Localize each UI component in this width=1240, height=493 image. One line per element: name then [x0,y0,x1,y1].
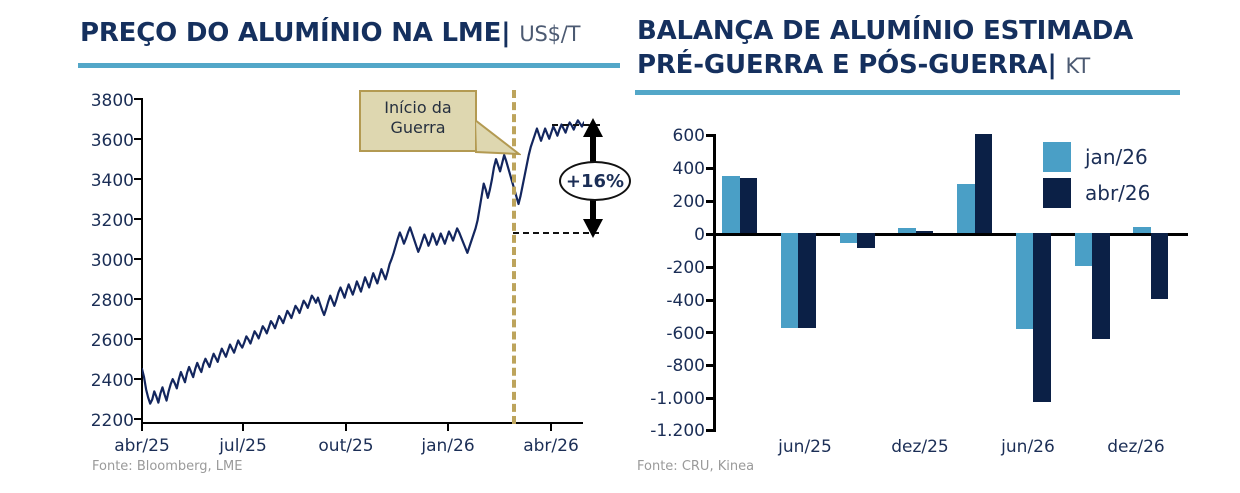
right-xtick-dez25: dez/25 [870,437,970,457]
right-ytick-neg800: -800 [625,356,705,376]
right-ytick-neg600: -600 [625,324,705,344]
right-title-separator: | [1047,50,1056,80]
price-delta-badge: +16% [559,161,631,201]
right-ytick-0: 0 [625,225,705,245]
left-ytickmark-3400 [134,178,142,180]
left-ytickmark-2400 [134,378,142,380]
legend-swatch-abr26 [1043,178,1071,208]
war-start-callout: Início da Guerra [359,90,477,152]
bar-mar-25-jan-26 [722,176,740,233]
bar-jun-26-jan-26 [1016,233,1034,329]
right-ytickmark-neg800 [706,364,714,367]
right-ytick-neg200: -200 [625,258,705,278]
right-title-text2: PRÉ-GUERRA E PÓS-GUERRA [637,50,1047,80]
right-ytick-600: 600 [625,126,705,146]
slide-root: PREÇO DO ALUMÍNIO NA LME| US$/T 3800 360… [0,0,1240,493]
bar-mar-25-abr-26 [740,178,758,234]
right-ytickmark-neg200 [706,266,714,269]
bar-set-25-abr-26 [857,233,875,248]
callout-line-1: Início da [371,98,465,118]
left-ytick-2400: 2400 [68,371,134,391]
legend-label-abr26: abr/26 [1085,181,1150,205]
left-xtick-out25: out/25 [300,436,392,456]
left-ytick-2600: 2600 [68,331,134,351]
bar-dez-25-abr-26 [916,231,934,234]
right-chart-title-line1: BALANÇA DE ALUMÍNIO ESTIMADA [637,16,1133,46]
left-title-unit: US$/T [519,22,580,46]
right-ytick-neg400: -400 [625,291,705,311]
left-chart-title: PREÇO DO ALUMÍNIO NA LME| US$/T [80,18,580,48]
left-chart-panel: PREÇO DO ALUMÍNIO NA LME| US$/T 3800 360… [0,0,625,493]
left-xtick-abr26: abr/26 [505,436,597,456]
left-ytickmark-3000 [134,258,142,260]
callout-tail-icon [475,120,521,156]
left-ytick-2200: 2200 [68,411,134,431]
right-ytickmark-neg600 [706,331,714,334]
right-ytick-neg1200: -1.200 [625,421,705,441]
left-ytickmark-2800 [134,298,142,300]
left-xtick-jul25: jul/25 [197,436,289,456]
right-ytickmark-200 [706,200,714,203]
bar-jun-25-abr-26 [798,233,816,327]
right-ytickmark-neg1000 [706,397,714,400]
left-ytick-3000: 3000 [68,251,134,271]
right-ytickmark-neg400 [706,299,714,302]
bar-chart-plot [715,134,1185,432]
left-ytick-3800: 3800 [68,91,134,111]
bar-dez-26-jan-26 [1133,227,1151,234]
left-xtick-jan26: jan/26 [402,436,494,456]
right-ytick-400: 400 [625,159,705,179]
left-ytickmark-2200 [134,418,142,420]
right-title-unit: KT [1065,54,1090,78]
bar-set-26-jan-26 [1075,233,1093,266]
bar-mar-26-abr-26 [975,134,993,233]
right-ytickmark-neg1200 [706,429,714,432]
right-chart-title-line2: PRÉ-GUERRA E PÓS-GUERRA| KT [637,50,1090,80]
right-xtick-jun25: jun/25 [755,437,855,457]
left-ytickmark-3600 [134,138,142,140]
bar-set-25-jan-26 [840,233,858,243]
left-chart-source: Fonte: Bloomberg, LME [92,459,242,474]
left-ytick-3600: 3600 [68,131,134,151]
legend-label-jan26: jan/26 [1085,145,1148,169]
left-ytick-2800: 2800 [68,291,134,311]
right-title-rule [635,90,1180,95]
bar-dez-25-jan-26 [898,228,916,233]
left-title-separator: | [501,18,510,48]
legend-swatch-jan26 [1043,142,1071,172]
left-ytickmark-3200 [134,218,142,220]
right-xtick-jun26: jun/26 [978,437,1078,457]
bar-jun-26-abr-26 [1033,233,1051,402]
bar-set-26-abr-26 [1092,233,1110,339]
right-chart-source: Fonte: CRU, Kinea [637,459,754,474]
right-ytick-neg1000: -1.000 [625,389,705,409]
left-ytick-3400: 3400 [68,171,134,191]
left-ytickmark-2600 [134,338,142,340]
callout-line-2: Guerra [371,118,465,138]
bar-jun-25-jan-26 [781,233,799,327]
left-title-text: PREÇO DO ALUMÍNIO NA LME [80,18,501,48]
right-ytickmark-400 [706,167,714,170]
left-ytickmark-3800 [134,98,142,100]
right-ytickmark-600 [706,134,714,137]
left-ytick-3200: 3200 [68,211,134,231]
left-xtick-abr25: abr/25 [96,436,188,456]
bar-mar-26-jan-26 [957,184,975,234]
right-xtick-dez26: dez/26 [1086,437,1186,457]
bar-dez-26-abr-26 [1151,233,1169,299]
right-chart-panel: BALANÇA DE ALUMÍNIO ESTIMADA PRÉ-GUERRA … [625,0,1240,493]
left-title-rule [78,63,620,68]
right-ytick-200: 200 [625,192,705,212]
